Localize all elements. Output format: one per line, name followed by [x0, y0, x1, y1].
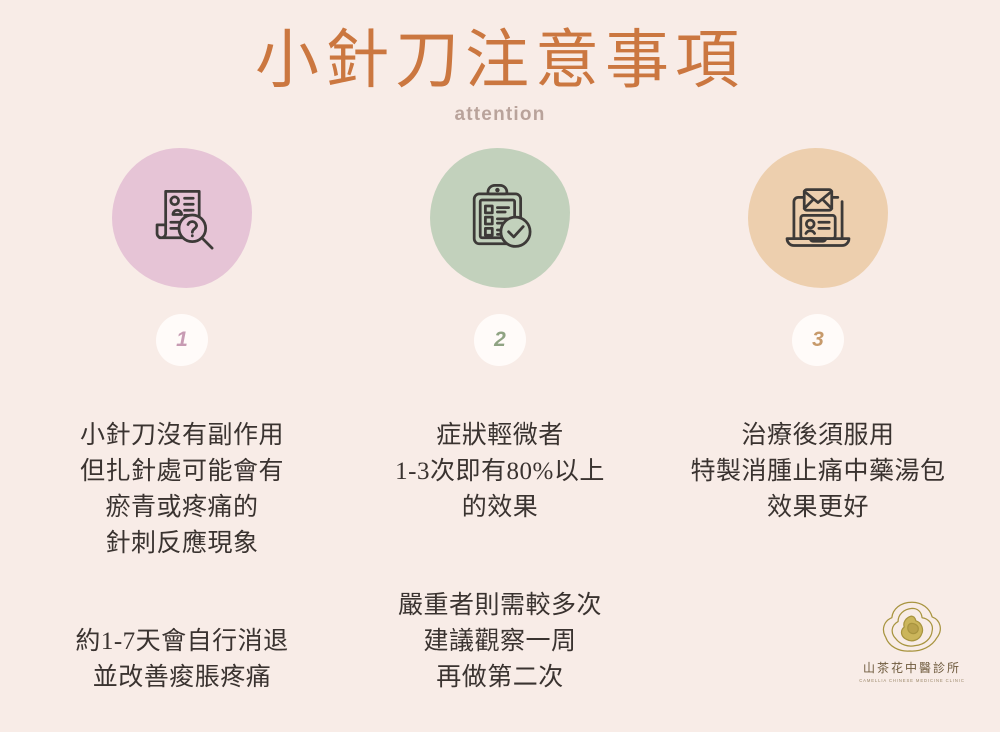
step-number-badge-3: 3 [792, 314, 844, 366]
clinic-logo: 山茶花中醫診所 CAMELLIA CHINESE MEDICINE CLINIC [852, 596, 972, 683]
document-search-question-icon [139, 175, 225, 261]
tip-paragraph: 治療後須服用 特製消腫止痛中藥湯包 效果更好 [690, 418, 945, 526]
tip-paragraph: 約1-7天會自行消退 並改善痠脹疼痛 [75, 624, 288, 696]
page-title: 小針刀注意事項 [0, 26, 1000, 96]
tip-paragraph: 嚴重者則需較多次 建議觀察一周 再做第二次 [395, 588, 605, 696]
icon-blob-2 [430, 148, 570, 288]
clipboard-checklist-approved-icon [457, 175, 543, 261]
tip-column-2: 2 症狀輕微者 1-3次即有80%以上 的效果 嚴重者則需較多次 建議觀察一周 … [341, 148, 659, 732]
tip-paragraph: 小針刀沒有副作用 但扎針處可能會有 瘀青或疼痛的 針刺反應現象 [75, 418, 288, 562]
step-number-2: 2 [494, 328, 506, 352]
tips-columns: 1 小針刀沒有副作用 但扎針處可能會有 瘀青或疼痛的 針刺反應現象 約1-7天會… [0, 148, 1000, 732]
icon-blob-3 [748, 148, 888, 288]
tip-paragraph: 症狀輕微者 1-3次即有80%以上 的效果 [395, 418, 605, 526]
page-subtitle: attention [0, 104, 1000, 126]
step-number-1: 1 [176, 328, 188, 352]
tip-column-1: 1 小針刀沒有副作用 但扎針處可能會有 瘀青或疼痛的 針刺反應現象 約1-7天會… [23, 148, 341, 732]
poster-header: 小針刀注意事項 attention [0, 0, 1000, 126]
icon-blob-1 [112, 148, 252, 288]
clinic-name-english: CAMELLIA CHINESE MEDICINE CLINIC [852, 678, 972, 683]
step-number-3: 3 [812, 328, 824, 352]
tip-text-block-2: 症狀輕微者 1-3次即有80%以上 的效果 嚴重者則需較多次 建議觀察一周 再做… [395, 382, 605, 732]
clinic-name: 山茶花中醫診所 [852, 659, 972, 676]
laptop-email-icon [775, 175, 861, 261]
tip-column-3: 3 治療後須服用 特製消腫止痛中藥湯包 效果更好 [659, 148, 977, 562]
tip-text-block-1: 小針刀沒有副作用 但扎針處可能會有 瘀青或疼痛的 針刺反應現象 約1-7天會自行… [75, 382, 288, 732]
tip-text-block-3: 治療後須服用 特製消腫止痛中藥湯包 效果更好 [690, 382, 945, 562]
step-number-badge-2: 2 [474, 314, 526, 366]
step-number-badge-1: 1 [156, 314, 208, 366]
camellia-flower-icon [852, 596, 972, 658]
